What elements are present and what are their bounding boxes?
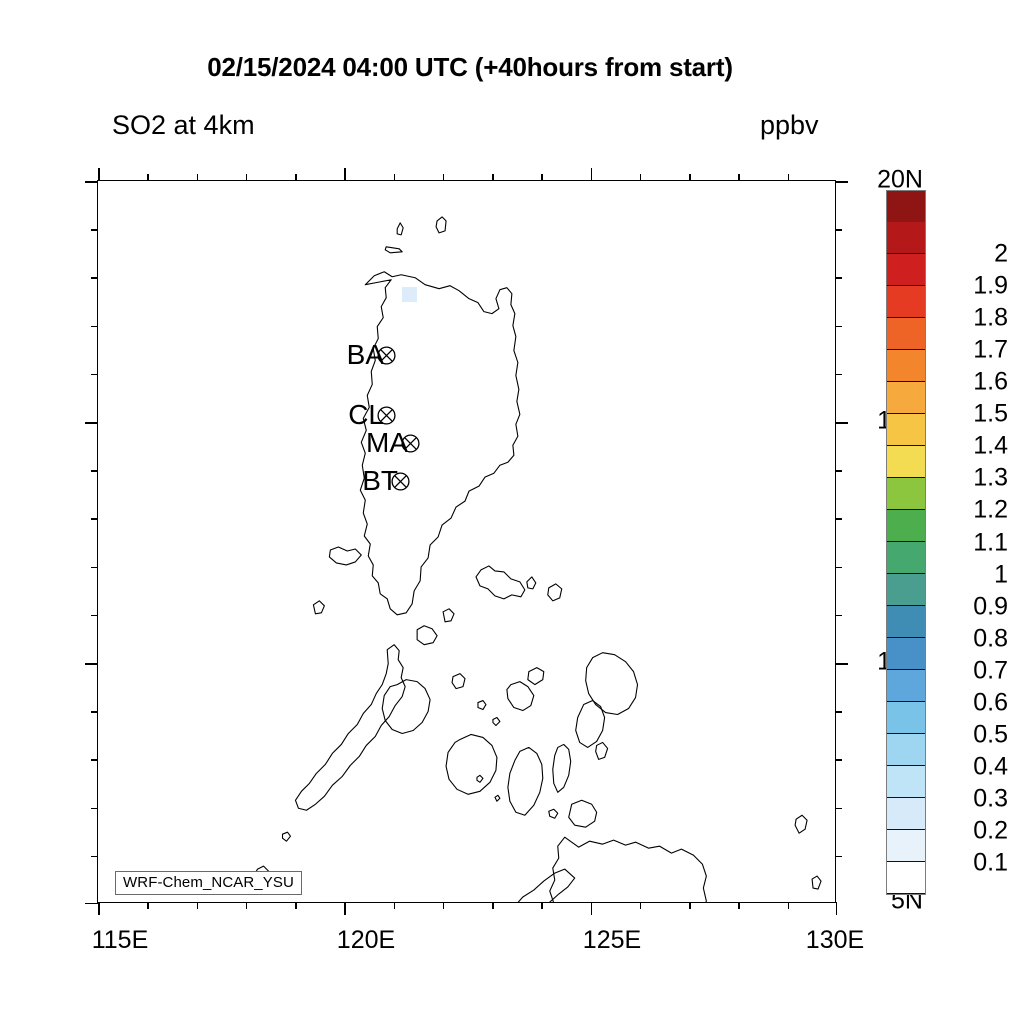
y-minor-tick-right: [835, 374, 842, 376]
colorbar-band-14: [887, 414, 925, 446]
y-minor-tick-right: [835, 856, 842, 858]
station-marker-icon: [376, 405, 397, 426]
colorbar-band-21: [887, 191, 925, 222]
y-minor-tick-right: [835, 808, 842, 810]
y-minor-tick: [91, 518, 98, 520]
y-tick-15n: [85, 422, 98, 424]
y-minor-tick: [91, 759, 98, 761]
y-minor-tick: [91, 229, 98, 231]
colorbar-tick-0.9: 0.9: [932, 592, 1008, 621]
x-minor-tick: [492, 902, 494, 909]
y-tick-20n: [85, 181, 98, 183]
x-tick-125e: [591, 902, 593, 915]
x-tick-top: [591, 168, 593, 181]
model-tag: WRF-Chem_NCAR_YSU: [115, 871, 302, 895]
y-minor-tick: [91, 615, 98, 617]
colorbar-band-13: [887, 446, 925, 478]
colorbar-tick-1.6: 1.6: [932, 368, 1008, 397]
x-minor-tick: [640, 902, 642, 909]
colorbar-tick-0.3: 0.3: [932, 784, 1008, 813]
station-marker-icon: [390, 471, 411, 492]
y-tick-right: [835, 422, 848, 424]
colorbar-band-20: [887, 222, 925, 254]
colorbar-band-9: [887, 574, 925, 606]
colorbar-band-6: [887, 670, 925, 702]
x-minor-tick-top: [689, 174, 691, 181]
x-tick-top: [98, 168, 100, 181]
x-minor-tick: [541, 902, 543, 909]
colorbar-band-7: [887, 638, 925, 670]
x-axis-label-120e: 120E: [337, 926, 395, 955]
colorbar-labels: 0.10.20.30.40.50.60.70.80.911.11.21.31.4…: [932, 190, 1016, 895]
x-axis-label-130e: 130E: [806, 926, 864, 955]
y-minor-tick: [91, 374, 98, 376]
colorbar-band-5: [887, 702, 925, 734]
colorbar-tick-1.3: 1.3: [932, 464, 1008, 493]
x-tick-top: [344, 168, 346, 181]
y-minor-tick-right: [835, 711, 842, 713]
colorbar-tick-0.1: 0.1: [932, 848, 1008, 877]
colorbar-tick-0.4: 0.4: [932, 752, 1008, 781]
x-minor-tick-top: [197, 174, 199, 181]
x-tick-115e: [98, 902, 100, 915]
colorbar-band-12: [887, 478, 925, 510]
colorbar-tick-1.8: 1.8: [932, 304, 1008, 333]
colorbar[interactable]: [886, 190, 926, 895]
y-minor-tick-right: [835, 277, 842, 279]
y-minor-tick: [91, 277, 98, 279]
colorbar-tick-1.2: 1.2: [932, 496, 1008, 525]
colorbar-band-1: [887, 830, 925, 862]
colorbar-band-2: [887, 798, 925, 830]
colorbar-tick-0.8: 0.8: [932, 624, 1008, 653]
page-title: 02/15/2024 04:00 UTC (+40hours from star…: [0, 52, 940, 83]
colorbar-band-3: [887, 766, 925, 798]
station-marker-icon: [400, 433, 421, 454]
y-tick-10n: [85, 663, 98, 665]
y-minor-tick: [91, 567, 98, 569]
colorbar-tick-1.1: 1.1: [932, 528, 1008, 557]
colorbar-band-17: [887, 318, 925, 350]
x-minor-tick: [689, 902, 691, 909]
y-minor-tick-right: [835, 759, 842, 761]
x-minor-tick: [197, 902, 199, 909]
y-minor-tick-right: [835, 615, 842, 617]
y-minor-tick-right: [835, 326, 842, 328]
variable-label: SO2 at 4km: [112, 110, 255, 141]
x-minor-tick: [738, 902, 740, 909]
y-minor-tick: [91, 711, 98, 713]
map-plot-area[interactable]: BA CL MA BT: [97, 180, 836, 903]
colorbar-tick-0.7: 0.7: [932, 656, 1008, 685]
colorbar-band-10: [887, 542, 925, 574]
colorbar-tick-0.2: 0.2: [932, 816, 1008, 845]
x-minor-tick-top: [788, 174, 790, 181]
colorbar-band-19: [887, 254, 925, 286]
x-tick-120e: [344, 902, 346, 915]
y-minor-tick-right: [835, 567, 842, 569]
x-minor-tick: [147, 902, 149, 909]
colorbar-band-0: [887, 862, 925, 894]
x-minor-tick: [246, 902, 248, 909]
x-tick-130e: [836, 902, 838, 915]
x-minor-tick-top: [640, 174, 642, 181]
y-minor-tick: [91, 470, 98, 472]
colorbar-tick-1.4: 1.4: [932, 432, 1008, 461]
x-minor-tick: [295, 902, 297, 909]
y-tick-right: [835, 663, 848, 665]
x-minor-tick: [394, 902, 396, 909]
x-minor-tick-top: [738, 174, 740, 181]
colorbar-tick-0.6: 0.6: [932, 688, 1008, 717]
colorbar-tick-1.5: 1.5: [932, 400, 1008, 429]
y-minor-tick: [91, 808, 98, 810]
x-minor-tick: [443, 902, 445, 909]
colorbar-band-15: [887, 382, 925, 414]
x-minor-tick-top: [443, 174, 445, 181]
station-marker-icon: [376, 345, 397, 366]
colorbar-tick-2: 2: [932, 240, 1008, 269]
y-tick-right: [835, 181, 848, 183]
y-minor-tick-right: [835, 229, 842, 231]
x-minor-tick-top: [541, 174, 543, 181]
x-axis-label-125e: 125E: [583, 926, 641, 955]
colorbar-tick-0.5: 0.5: [932, 720, 1008, 749]
y-minor-tick: [91, 856, 98, 858]
so2-grid-cell: [402, 287, 417, 302]
colorbar-band-18: [887, 286, 925, 318]
colorbar-tick-1.7: 1.7: [932, 336, 1008, 365]
y-minor-tick: [91, 326, 98, 328]
y-minor-tick-right: [835, 470, 842, 472]
colorbar-tick-1.9: 1.9: [932, 272, 1008, 301]
x-axis-label-115e: 115E: [92, 926, 149, 955]
philippines-coastline-map: [98, 181, 835, 902]
x-minor-tick-top: [147, 174, 149, 181]
y-tick-5n: [85, 903, 98, 905]
colorbar-band-4: [887, 734, 925, 766]
x-minor-tick: [788, 902, 790, 909]
colorbar-band-11: [887, 510, 925, 542]
x-minor-tick-top: [246, 174, 248, 181]
x-minor-tick-top: [492, 174, 494, 181]
y-minor-tick-right: [835, 518, 842, 520]
unit-label: ppbv: [760, 110, 819, 141]
x-minor-tick-top: [295, 174, 297, 181]
colorbar-band-8: [887, 606, 925, 638]
so2-forecast-figure: 02/15/2024 04:00 UTC (+40hours from star…: [0, 0, 1024, 1024]
colorbar-tick-1: 1: [932, 560, 1008, 589]
x-minor-tick-top: [394, 174, 396, 181]
colorbar-band-16: [887, 350, 925, 382]
